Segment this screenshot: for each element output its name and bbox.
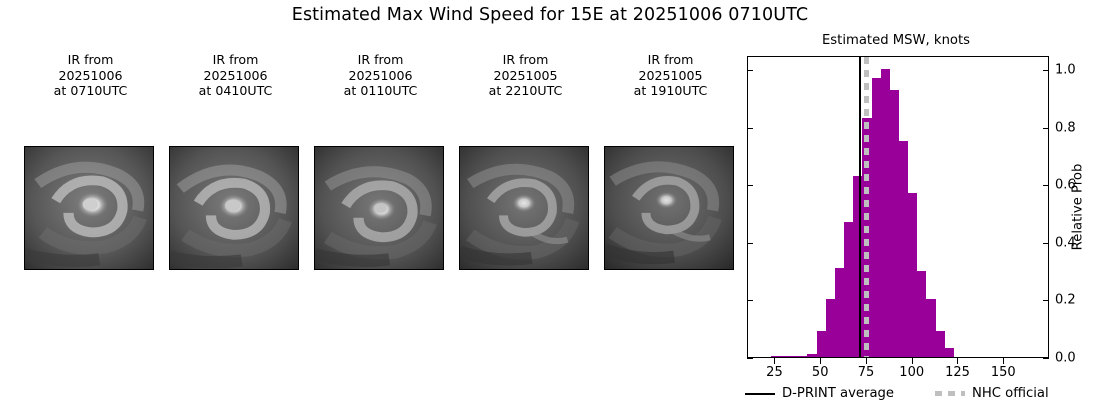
histogram-bar	[917, 271, 926, 357]
dprint-average-line	[859, 57, 861, 357]
x-tick-label: 75	[858, 365, 875, 380]
y-tick-mark	[1043, 358, 1049, 359]
y-tick-mark-left	[747, 70, 753, 71]
satellite-panel: IR from 20251006 at 0710UTC	[18, 52, 163, 99]
y-tick-mark	[1043, 185, 1049, 186]
x-tick-label: 25	[766, 365, 783, 380]
y-axis-label: Relative Prob	[1071, 164, 1086, 251]
x-tick-label: 50	[812, 365, 829, 380]
histogram-bar	[835, 268, 844, 357]
x-tick-mark	[912, 358, 913, 364]
page-title: Estimated Max Wind Speed for 15E at 2025…	[0, 5, 1100, 25]
histogram-bar	[881, 69, 890, 357]
x-tick-mark	[866, 358, 867, 364]
legend-label: NHC official	[972, 386, 1049, 401]
satellite-panel: IR from 20251005 at 2210UTC	[453, 52, 598, 99]
x-tick-mark	[820, 358, 821, 364]
histogram-bar	[926, 299, 935, 357]
histogram-bar	[807, 354, 816, 357]
panel-caption: IR from 20251006 at 0710UTC	[18, 52, 163, 99]
ir-satellite-image	[604, 146, 734, 270]
panel-caption: IR from 20251006 at 0410UTC	[163, 52, 308, 99]
y-tick-mark-left	[747, 128, 753, 129]
panel-caption: IR from 20251005 at 2210UTC	[453, 52, 598, 99]
histogram-bar	[780, 356, 789, 357]
y-tick-mark-left	[747, 185, 753, 186]
satellite-panel: IR from 20251006 at 0110UTC	[308, 52, 453, 99]
x-tick-mark	[774, 358, 775, 364]
x-tick-label: 150	[991, 365, 1016, 380]
y-tick-label: 0.0	[1055, 351, 1076, 366]
y-tick-mark	[1043, 70, 1049, 71]
msw-histogram-chart: Estimated MSW, knots 0.00.20.40.60.81.02…	[745, 33, 1100, 409]
chart-legend: D-PRINT average NHC official	[745, 386, 1077, 408]
satellite-panel: IR from 20251006 at 0410UTC	[163, 52, 308, 99]
y-tick-mark-left	[747, 358, 753, 359]
y-tick-mark	[1043, 243, 1049, 244]
histogram-bar	[908, 193, 917, 357]
ir-satellite-image	[24, 146, 154, 270]
nhc-official-line	[864, 57, 869, 357]
histogram-bar	[771, 356, 780, 357]
panel-caption: IR from 20251005 at 1910UTC	[598, 52, 743, 99]
y-tick-label: 1.0	[1055, 63, 1076, 78]
dotted-line-icon	[935, 391, 965, 396]
satellite-panel-strip: IR from 20251006 at 0710UTC	[0, 52, 740, 282]
legend-entry-dprint: D-PRINT average	[745, 386, 894, 401]
panel-caption: IR from 20251006 at 0110UTC	[308, 52, 453, 99]
satellite-panel: IR from 20251005 at 1910UTC	[598, 52, 743, 99]
histogram-bar	[844, 222, 853, 357]
histogram-bar	[872, 78, 881, 357]
y-tick-mark	[1043, 300, 1049, 301]
x-tick-label: 100	[899, 365, 924, 380]
histogram-bar	[798, 356, 807, 357]
histogram-bar	[826, 299, 835, 357]
y-tick-label: 0.2	[1055, 293, 1076, 308]
plot-area	[747, 56, 1049, 358]
histogram-bar	[936, 331, 945, 357]
y-tick-mark-left	[747, 243, 753, 244]
ir-satellite-image	[314, 146, 444, 270]
chart-title: Estimated MSW, knots	[745, 33, 1047, 48]
histogram-bar	[789, 356, 798, 357]
histogram-bar	[817, 331, 826, 357]
histogram-bar	[945, 348, 954, 357]
y-tick-mark-left	[747, 300, 753, 301]
histogram-bar	[899, 141, 908, 357]
plot-inner	[748, 57, 1048, 357]
ir-satellite-image	[169, 146, 299, 270]
ir-satellite-image	[459, 146, 589, 270]
x-tick-mark	[957, 358, 958, 364]
legend-label: D-PRINT average	[782, 386, 894, 401]
solid-line-icon	[745, 393, 775, 395]
x-tick-mark	[1003, 358, 1004, 364]
y-tick-mark	[1043, 128, 1049, 129]
x-tick-label: 125	[945, 365, 970, 380]
legend-entry-nhc: NHC official	[935, 386, 1049, 401]
histogram-bar	[890, 90, 899, 357]
y-tick-label: 0.8	[1055, 120, 1076, 135]
